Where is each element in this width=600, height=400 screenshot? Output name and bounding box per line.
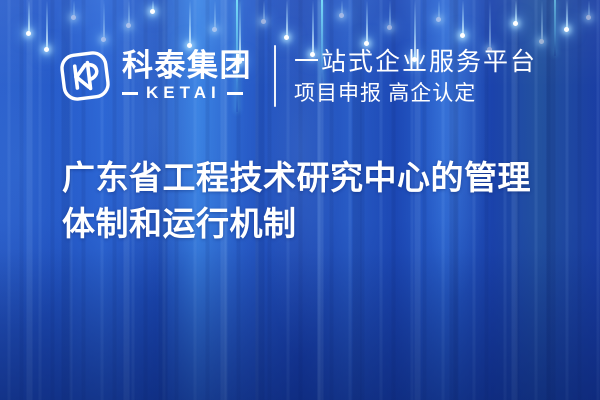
page-title: 广东省工程技术研究中心的管理体制和运行机制 <box>62 155 562 247</box>
header-divider <box>274 45 276 107</box>
logo-dash-left-icon <box>122 92 138 95</box>
brand-header: 科泰集团 KETAI 一站式企业服务平台 项目申报 高企认定 <box>0 40 600 112</box>
logo-english-row: KETAI <box>122 84 252 102</box>
logo-chinese-name: 科泰集团 <box>122 50 252 82</box>
logo-dash-right-icon <box>227 92 243 95</box>
logo-wordmark: 科泰集团 KETAI <box>122 50 252 102</box>
article-banner: 科泰集团 KETAI 一站式企业服务平台 项目申报 高企认定 广东省工程技术研究… <box>0 0 600 400</box>
company-logo[interactable]: 科泰集团 KETAI <box>58 49 252 103</box>
tagline-secondary: 项目申报 高企认定 <box>294 80 537 106</box>
tagline-primary: 一站式企业服务平台 <box>294 47 537 77</box>
ketai-diamond-kd-monogram-icon <box>58 49 112 103</box>
logo-english-name: KETAI <box>138 84 227 102</box>
brand-tagline: 一站式企业服务平台 项目申报 高企认定 <box>294 47 537 106</box>
